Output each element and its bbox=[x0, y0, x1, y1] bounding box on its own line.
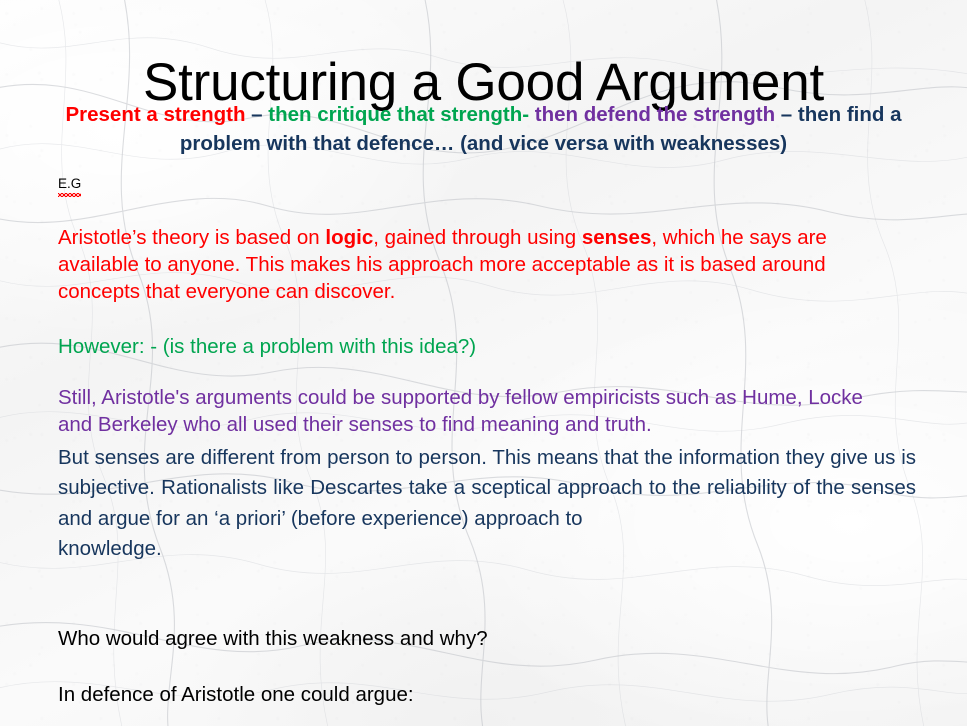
subtitle-segment-dash-1: – bbox=[251, 103, 268, 126]
navy-critique-last-line: knowledge. bbox=[58, 534, 916, 564]
red-text-part-1: Aristotle’s theory is based on bbox=[58, 226, 325, 249]
red-text-bold-logic: logic bbox=[325, 226, 373, 249]
paragraph-black-prompt: In defence of Aristotle one could argue: bbox=[58, 681, 886, 708]
paragraph-red-example: Aristotle’s theory is based on logic, ga… bbox=[58, 224, 886, 306]
red-text-part-2: , gained through using bbox=[373, 226, 582, 249]
red-text-bold-senses: senses bbox=[582, 226, 652, 249]
subtitle-segment-defend: then defend the strength bbox=[535, 103, 781, 126]
eg-label-text: E.G bbox=[58, 176, 81, 191]
subtitle-instruction-line: Present a strength – then critique that … bbox=[60, 100, 907, 158]
paragraph-black-question: Who would agree with this weakness and w… bbox=[58, 625, 886, 652]
navy-critique-text: But senses are different from person to … bbox=[58, 446, 916, 530]
paragraph-green-question: However: - (is there a problem with this… bbox=[58, 333, 886, 360]
eg-label: E.G bbox=[58, 176, 81, 192]
presentation-slide: Structuring a Good Argument Present a st… bbox=[0, 0, 967, 726]
paragraph-purple-defence: Still, Aristotle's arguments could be su… bbox=[58, 384, 886, 439]
spellcheck-squiggle-icon bbox=[58, 193, 81, 197]
subtitle-segment-present-strength: Present a strength bbox=[65, 103, 251, 126]
paragraph-navy-critique: But senses are different from person to … bbox=[58, 443, 916, 564]
subtitle-segment-critique: then critique that strength- bbox=[268, 103, 535, 126]
